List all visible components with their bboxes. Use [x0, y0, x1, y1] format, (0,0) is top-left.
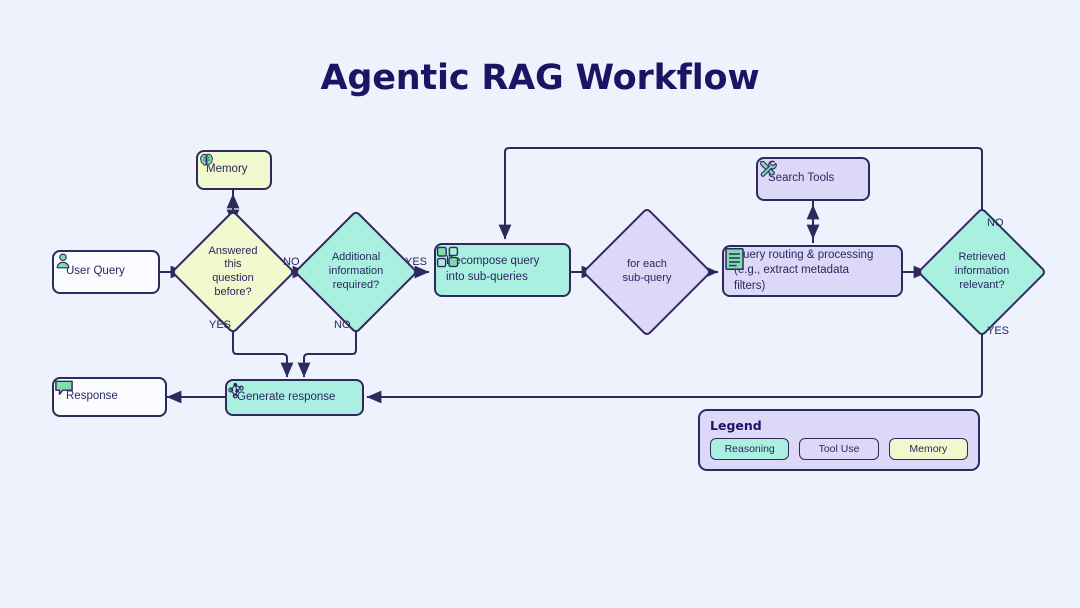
legend-item-label: Memory	[909, 443, 947, 455]
node-label: for each sub-query	[601, 226, 693, 318]
node-query-routing[interactable]: Query routing & processing (e.g., extrac…	[722, 245, 903, 297]
node-decompose-query[interactable]: Decompose query into sub-queries	[434, 243, 571, 297]
node-response[interactable]: Response	[52, 377, 167, 417]
node-label: Answered this question before?	[189, 228, 277, 316]
node-label: Generate response	[237, 390, 335, 406]
edge-retrieved-no-to-decompose	[505, 148, 982, 239]
legend-title: Legend	[710, 418, 968, 433]
edge-layer	[0, 0, 1080, 608]
node-search-tools[interactable]: Search Tools	[756, 157, 870, 201]
legend-item-label: Tool Use	[819, 443, 860, 455]
diagram-canvas: Agentic RAG Workflow	[0, 0, 1080, 608]
brain-icon	[198, 152, 215, 169]
edge-label-retrieved-yes: YES	[987, 325, 1009, 337]
edge-answered-yes-to-generate	[233, 318, 287, 377]
node-label: Retrieved information relevant?	[936, 226, 1028, 318]
node-label: User Query	[66, 264, 125, 280]
edge-label-additional-yes: YES	[405, 256, 427, 268]
node-retrieved-relevant[interactable]: Retrieved information relevant?	[936, 226, 1028, 318]
grid-icon	[436, 245, 460, 269]
edge-label-additional-no: NO	[334, 319, 351, 331]
edge-label-retrieved-no: NO	[987, 217, 1004, 229]
legend-item-memory: Memory	[889, 438, 968, 460]
edge-retrieved-yes-to-generate	[367, 318, 982, 397]
legend-item-reasoning: Reasoning	[710, 438, 789, 460]
node-label: Query routing & processing (e.g., extrac…	[734, 248, 873, 295]
tools-icon	[758, 159, 777, 178]
node-label: Search Tools	[768, 171, 834, 187]
speech-bubble-icon	[54, 379, 74, 397]
node-answered-before[interactable]: Answered this question before?	[189, 228, 277, 316]
node-label: Additional information required?	[312, 228, 400, 316]
legend-item-tool-use: Tool Use	[799, 438, 878, 460]
document-icon	[724, 247, 746, 271]
network-icon	[227, 381, 245, 399]
node-generate-response[interactable]: Generate response	[225, 379, 364, 416]
legend-item-label: Reasoning	[725, 443, 775, 455]
node-additional-info[interactable]: Additional information required?	[312, 228, 400, 316]
legend-chips: Reasoning Tool Use Memory	[710, 438, 968, 460]
node-for-each-subquery[interactable]: for each sub-query	[601, 226, 693, 318]
node-memory[interactable]: Memory	[196, 150, 272, 190]
user-icon	[54, 252, 72, 270]
node-user-query[interactable]: User Query	[52, 250, 160, 294]
edge-label-answered-yes: YES	[209, 319, 231, 331]
legend: Legend Reasoning Tool Use Memory	[698, 409, 980, 471]
edge-label-answered-no: NO	[283, 256, 300, 268]
